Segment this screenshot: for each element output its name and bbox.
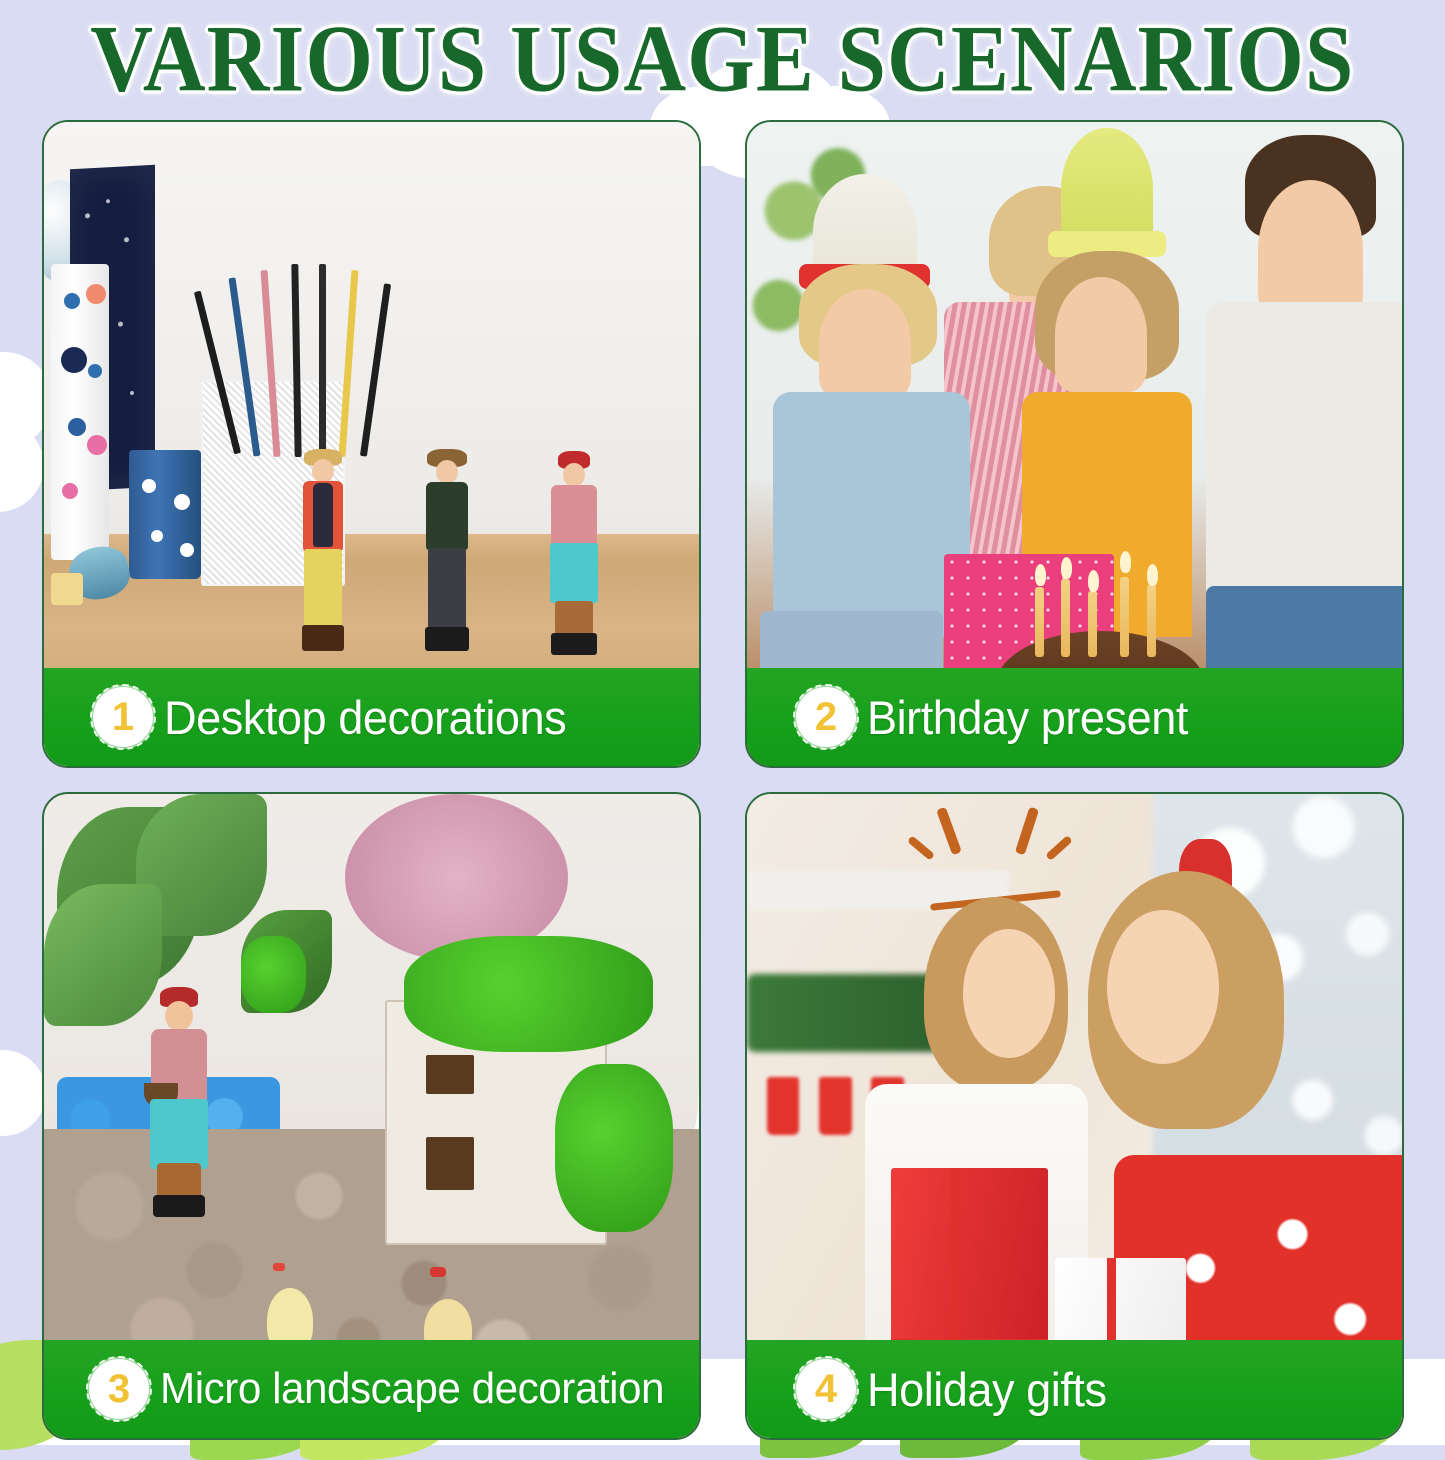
candle-2 — [1061, 579, 1070, 657]
figurine-blouse — [551, 485, 597, 549]
caption-label-2: Birthday present — [867, 690, 1188, 745]
candle-flame-1 — [1035, 564, 1046, 586]
boy-shirt — [773, 392, 970, 637]
figurine-skirt — [150, 1099, 208, 1169]
badge-number-2: 2 — [799, 690, 853, 744]
moss-side — [555, 1064, 673, 1231]
antler-left-branch — [907, 835, 935, 860]
figurine-vest — [313, 483, 333, 547]
figurine-skirt — [550, 543, 598, 603]
scenario-panel-2[interactable]: 2 Birthday present — [745, 120, 1404, 768]
badge-number-3: 3 — [92, 1362, 146, 1416]
figurine-legs — [428, 548, 466, 630]
stocking-1 — [767, 1077, 800, 1135]
candle-4 — [1120, 577, 1129, 657]
father-face — [1258, 180, 1363, 322]
figurine-torso — [426, 482, 468, 550]
house-window-upper — [426, 1055, 474, 1094]
badge-number-4: 4 — [799, 1362, 853, 1416]
girl-face — [1055, 277, 1147, 393]
panel-caption-4: 4 Holiday gifts — [747, 1340, 1402, 1438]
figurine-goose-beak — [273, 1263, 285, 1271]
candle-flame-2 — [1061, 557, 1072, 579]
antler-left — [936, 807, 962, 856]
figurine-rooster-comb — [430, 1267, 446, 1277]
blue-pen-cup — [129, 450, 201, 579]
candle-flame-5 — [1147, 564, 1158, 586]
figurine-head — [563, 463, 585, 487]
page-title: VARIOUS USAGE SCENARIOS — [90, 4, 1354, 113]
figurine-shorts — [555, 601, 593, 635]
moss-patch — [241, 936, 307, 1013]
candle-5 — [1147, 585, 1156, 657]
candle-flame-4 — [1120, 551, 1131, 573]
candle-1 — [1035, 587, 1044, 657]
caption-label-4: Holiday gifts — [867, 1362, 1107, 1417]
badge-number-1: 1 — [96, 690, 150, 744]
caption-label-1: Desktop decorations — [164, 690, 566, 745]
scenario-panel-1[interactable]: 1 Desktop decorations — [42, 120, 701, 768]
polka-dot-cylinder — [51, 264, 110, 560]
figurine-legs — [304, 549, 342, 627]
figurine-head — [165, 1001, 193, 1031]
figurine-boots — [425, 627, 469, 651]
girl-face — [963, 929, 1055, 1058]
boy-face — [819, 289, 911, 398]
moss-roof — [404, 936, 653, 1052]
figurine-head — [312, 459, 334, 483]
figurine-shoes — [551, 633, 597, 655]
figurine-woman — [542, 451, 606, 689]
yellow-cap — [51, 573, 84, 605]
figurine-farmer-dark — [417, 449, 477, 689]
figurine-head — [436, 460, 458, 484]
cloud-decor-left-c — [0, 1050, 46, 1136]
stocking-2 — [819, 1077, 852, 1135]
mother-face — [1107, 910, 1218, 1065]
candle-3 — [1088, 591, 1097, 657]
panel-caption-3: 3 Micro landscape decoration — [44, 1340, 699, 1438]
page-title-container: VARIOUS USAGE SCENARIOS — [0, 0, 1445, 118]
antler-right-branch — [1045, 835, 1073, 861]
house-window-lower — [426, 1137, 474, 1190]
figurine-farmer-red — [293, 449, 353, 689]
pencil-5 — [319, 264, 326, 457]
candle-flame-3 — [1088, 570, 1099, 592]
scenario-panel-4[interactable]: 4 Holiday gifts — [745, 792, 1404, 1440]
scenario-panel-3[interactable]: 3 Micro landscape decoration — [42, 792, 701, 1440]
scenario-grid: 1 Desktop decorations — [42, 120, 1404, 1440]
figurine-woman — [142, 987, 216, 1237]
antler-right — [1015, 807, 1039, 856]
figurine-shoes — [153, 1195, 205, 1217]
figurine-boots — [302, 625, 344, 651]
panel-caption-2: 2 Birthday present — [747, 668, 1402, 766]
panel-caption-1: 1 Desktop decorations — [44, 668, 699, 766]
caption-label-3: Micro landscape decoration — [160, 1364, 664, 1414]
father-shirt — [1206, 302, 1405, 598]
